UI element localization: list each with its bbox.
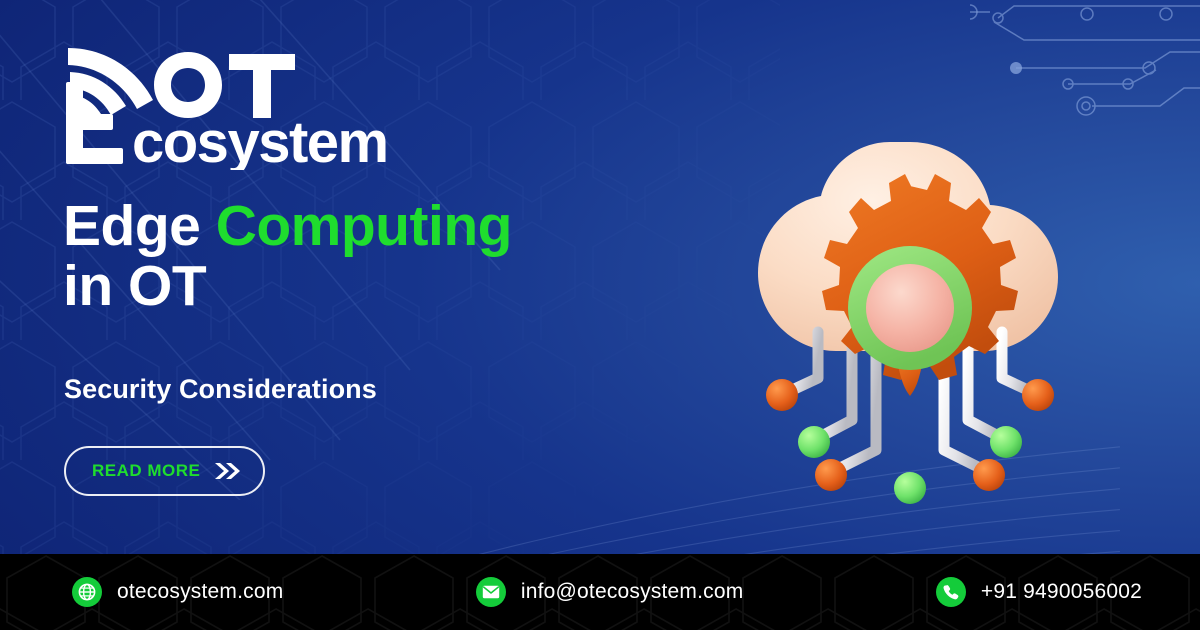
cloud-gear-edge-nodes-illustration bbox=[700, 120, 1120, 540]
brand-logo[interactable]: cosystem bbox=[58, 38, 398, 170]
promo-banner: cosystem Edge Computing in OT Security C… bbox=[0, 0, 1200, 630]
svg-text:cosystem: cosystem bbox=[132, 110, 388, 170]
globe-icon bbox=[72, 577, 102, 607]
phone-text: +91 9490056002 bbox=[981, 580, 1142, 604]
gear-core bbox=[866, 264, 954, 352]
node-orange bbox=[815, 459, 847, 491]
phone-icon bbox=[936, 577, 966, 607]
page-subtitle: Security Considerations bbox=[64, 374, 377, 405]
node-orange bbox=[1022, 379, 1054, 411]
double-chevron-right-icon bbox=[214, 462, 241, 480]
circuit-trace-decoration bbox=[970, 0, 1200, 135]
read-more-label: READ MORE bbox=[92, 461, 200, 481]
headline-accent: Computing bbox=[216, 194, 512, 258]
node-orange bbox=[973, 459, 1005, 491]
email-text: info@otecosystem.com bbox=[521, 580, 744, 604]
node-orange bbox=[766, 379, 798, 411]
read-more-button[interactable]: READ MORE bbox=[64, 446, 265, 496]
contact-website[interactable]: otecosystem.com bbox=[72, 577, 283, 607]
node-green bbox=[894, 472, 926, 504]
headline-part-1: Edge bbox=[63, 194, 216, 258]
node-green bbox=[798, 426, 830, 458]
website-text: otecosystem.com bbox=[117, 580, 283, 604]
contact-phone[interactable]: +91 9490056002 bbox=[936, 577, 1142, 607]
node-green bbox=[990, 426, 1022, 458]
contact-list: otecosystem.com info@otecosystem.com bbox=[0, 554, 1200, 630]
envelope-icon bbox=[476, 577, 506, 607]
headline-part-2: in OT bbox=[63, 254, 206, 318]
contact-footer: otecosystem.com info@otecosystem.com bbox=[0, 554, 1200, 630]
contact-email[interactable]: info@otecosystem.com bbox=[476, 577, 744, 607]
page-title: Edge Computing in OT bbox=[63, 196, 703, 317]
